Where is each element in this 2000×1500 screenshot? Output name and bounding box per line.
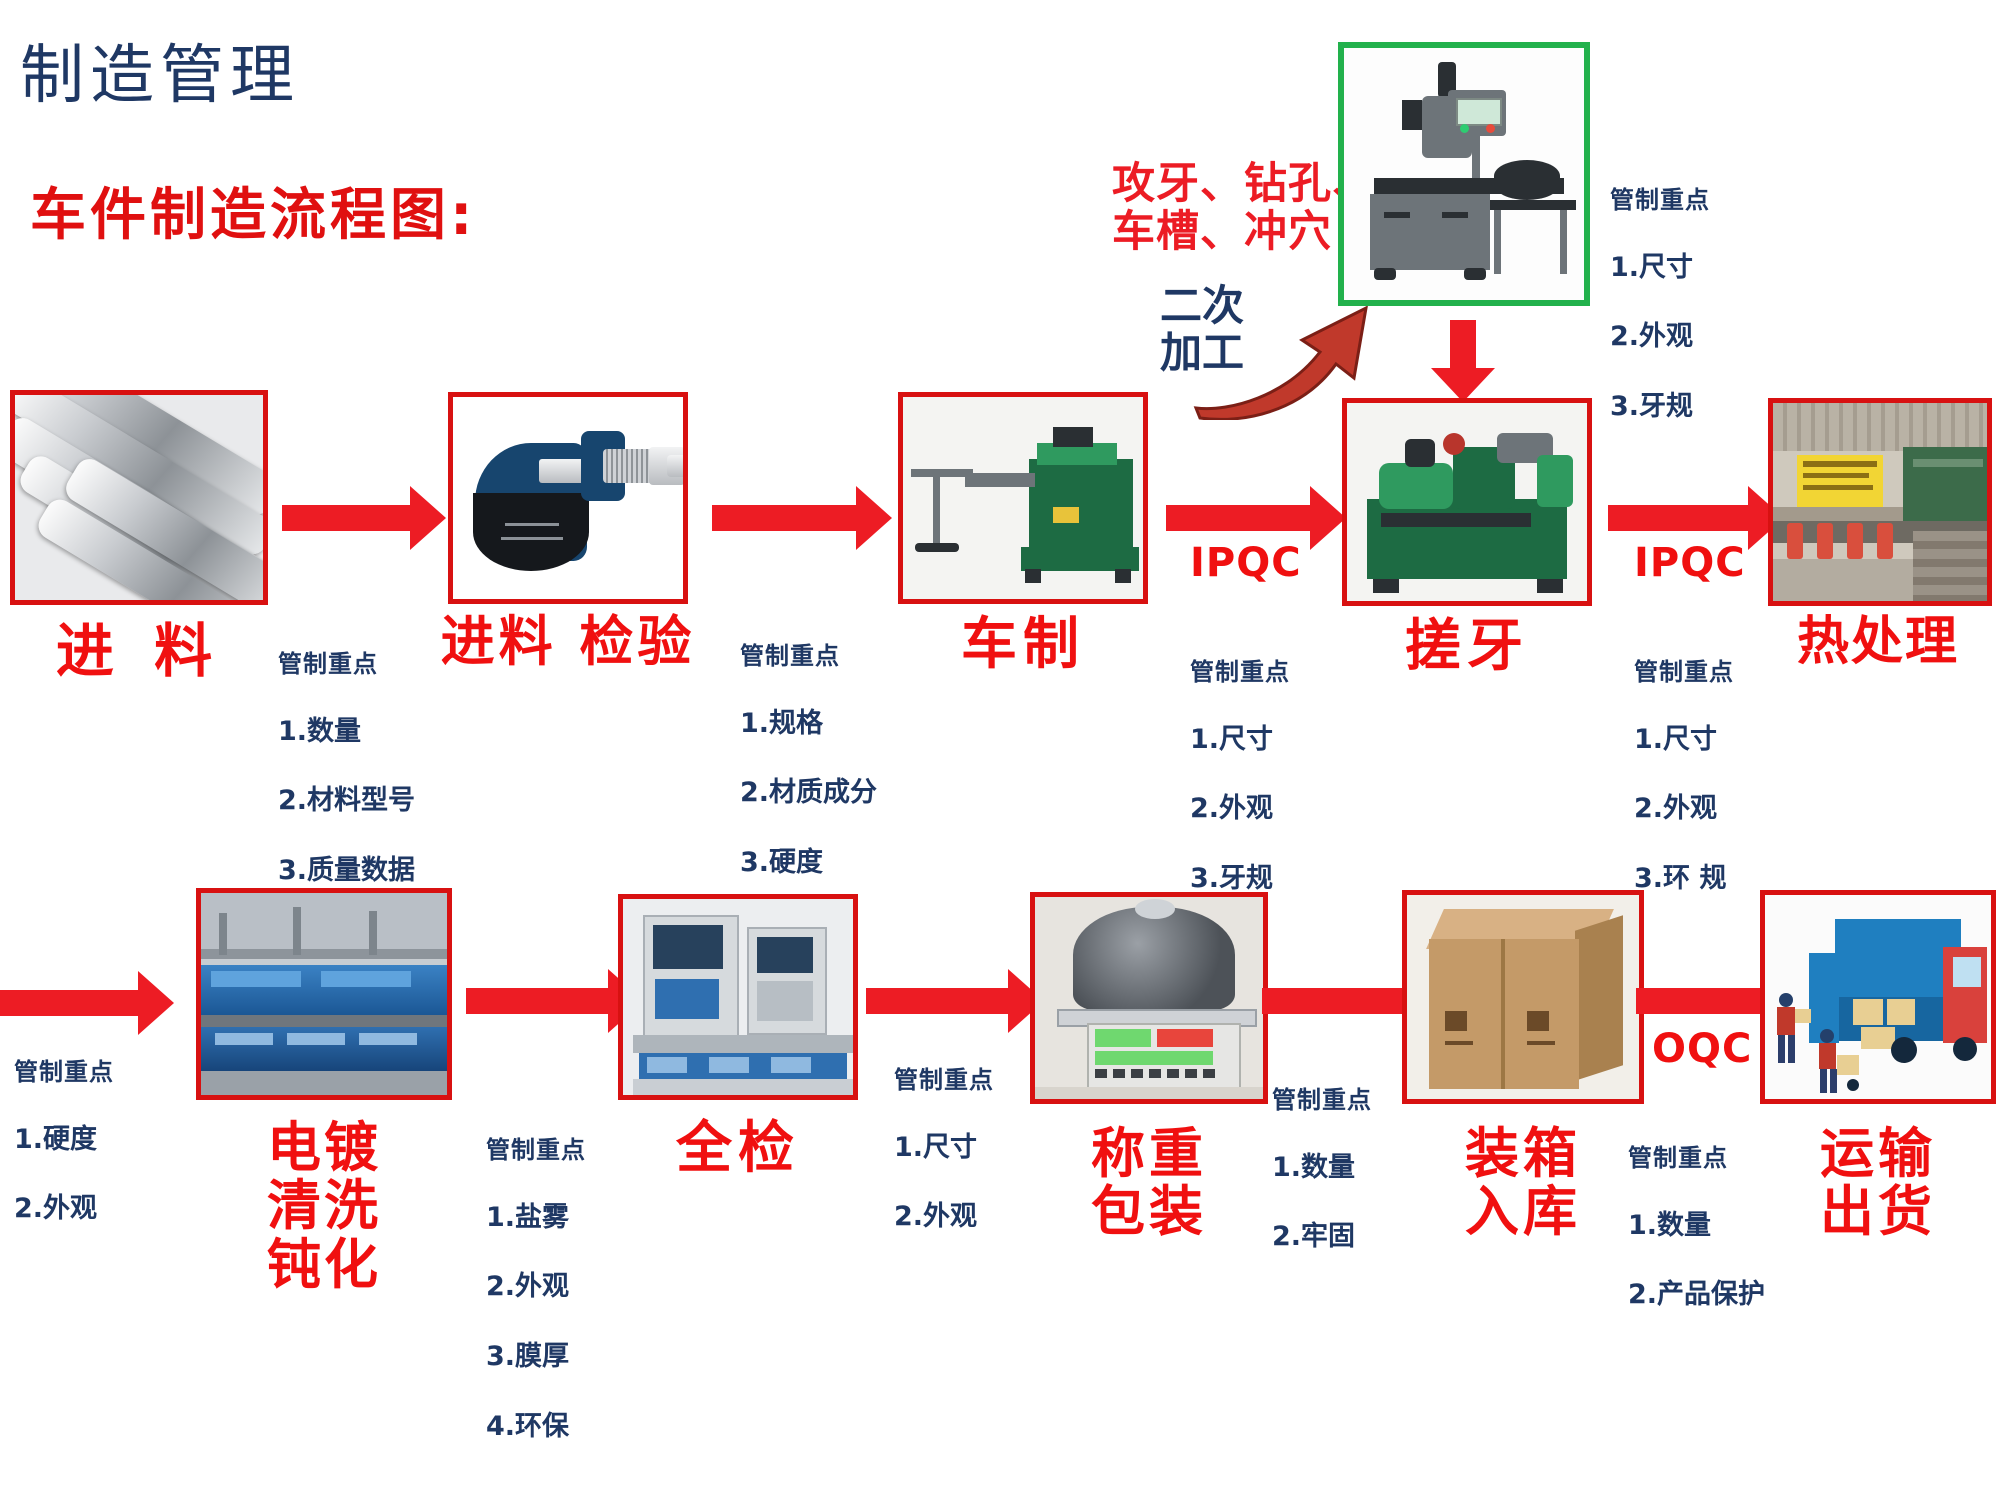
- heat-treatment-furnace-photo: [1773, 403, 1987, 601]
- steel-bars-photo: [15, 395, 263, 600]
- flow-arrow-7: [866, 988, 1010, 1014]
- flow-arrow-9: [1636, 988, 1768, 1014]
- annotation-secondary-ops: 攻牙、钻孔、 车槽、冲穴: [1112, 160, 1376, 256]
- page-title: 制造管理: [20, 24, 300, 116]
- step-label-shipping: 运输 出货: [1760, 1124, 1996, 1241]
- flow-arrow-down: [1450, 320, 1476, 372]
- step-label-thread-rolling: 搓牙: [1342, 616, 1592, 676]
- flow-arrow-6: [466, 988, 610, 1014]
- step-image-incoming-inspection: [448, 392, 688, 604]
- flow-arrow-8: [1262, 988, 1406, 1014]
- control-block-10: 管制重点 1.数量 2.产品保护: [1628, 1106, 1765, 1330]
- control-block-7: 管制重点 1.盐雾 2.外观 3.膜厚 4.环保: [486, 1098, 586, 1461]
- step-label-turning: 车制: [898, 614, 1148, 674]
- step-label-heat-treatment: 热处理: [1756, 614, 2000, 670]
- control-block-3: 管制重点 1.尺寸 2.外观 3.牙规: [1190, 620, 1290, 914]
- qc-tag-ipqc-1: IPQC: [1190, 540, 1302, 586]
- auto-inspection-machine-photo: [623, 899, 853, 1095]
- tapping-drilling-machine-photo: [1344, 48, 1584, 300]
- control-block-5: 管制重点 1.尺寸 2.外观 3.环 规: [1634, 620, 1734, 914]
- flow-arrow-4: [1608, 505, 1750, 531]
- carton-box-photo: [1407, 895, 1639, 1099]
- control-block-8: 管制重点 1.尺寸 2.外观: [894, 1028, 994, 1252]
- lathe-machine-photo: [903, 397, 1143, 599]
- step-image-thread-rolling: [1342, 398, 1592, 606]
- flow-arrow-1: [282, 505, 412, 531]
- thread-rolling-machine-photo: [1347, 403, 1587, 601]
- weighing-scale-photo: [1035, 897, 1263, 1099]
- step-label-electroplating: 电镀 清洗 钝化: [196, 1118, 452, 1293]
- step-label-weighing-packing: 称重 包装: [1030, 1124, 1268, 1241]
- step-image-heat-treatment: [1768, 398, 1992, 606]
- control-block-6: 管制重点 1.硬度 2.外观: [14, 1020, 114, 1244]
- qc-tag-ipqc-2: IPQC: [1634, 540, 1746, 586]
- control-block-1: 管制重点 1.数量 2.材料型号 3.质量数据: [278, 612, 415, 906]
- control-block-4: 管制重点 1.尺寸 2.外观 3.牙规: [1610, 148, 1710, 442]
- step-label-incoming-inspection: 进料 检验: [430, 612, 706, 670]
- step-image-electroplating: [196, 888, 452, 1100]
- step-image-tapping-machine: [1338, 42, 1590, 306]
- step-image-weighing-packing: [1030, 892, 1268, 1104]
- step-image-incoming-material: [10, 390, 268, 605]
- flow-arrow-5: [0, 990, 140, 1016]
- qc-tag-oqc: OQC: [1652, 1026, 1752, 1072]
- step-image-packing-warehouse: [1402, 890, 1644, 1104]
- step-image-full-inspection: [618, 894, 858, 1100]
- step-image-turning: [898, 392, 1148, 604]
- micrometer-photo: [453, 397, 683, 599]
- flow-arrow-2: [712, 505, 858, 531]
- control-block-9: 管制重点 1.数量 2.牢固: [1272, 1048, 1372, 1272]
- step-image-shipping: [1760, 890, 1996, 1104]
- electroplating-line-photo: [201, 893, 447, 1095]
- step-label-full-inspection: 全检: [618, 1118, 858, 1178]
- step-label-packing-warehouse: 装箱 入库: [1402, 1124, 1644, 1241]
- flow-arrow-3: [1166, 505, 1312, 531]
- page-subtitle: 车件制造流程图:: [30, 170, 476, 251]
- delivery-truck-photo: [1765, 895, 1991, 1099]
- step-label-incoming-material: 进 料: [10, 620, 268, 683]
